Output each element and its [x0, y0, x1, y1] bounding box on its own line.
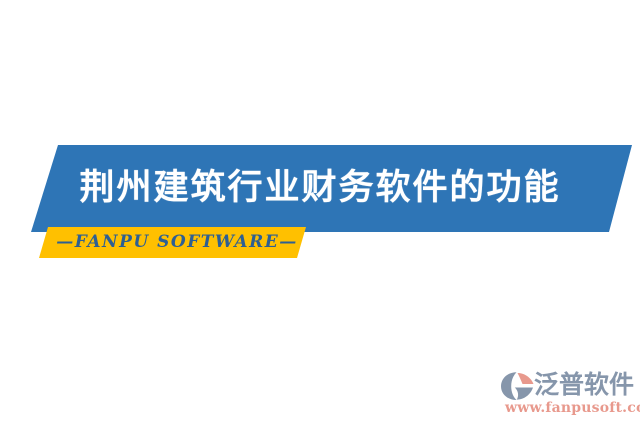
logo-wordmark: 泛普软件	[534, 370, 634, 400]
banner-shapes	[0, 0, 640, 427]
logo-url-text: www.fanpusoft.com	[505, 400, 640, 416]
banner-group	[0, 0, 640, 427]
fanpu-logo-mark-icon	[500, 371, 536, 401]
page-title: 荆州建筑行业财务软件的功能	[0, 168, 640, 208]
brand-logo: 泛普软件 www.fanpusoft.com	[498, 367, 638, 415]
banner-subtitle: —FANPU SOFTWARE—	[52, 230, 302, 254]
